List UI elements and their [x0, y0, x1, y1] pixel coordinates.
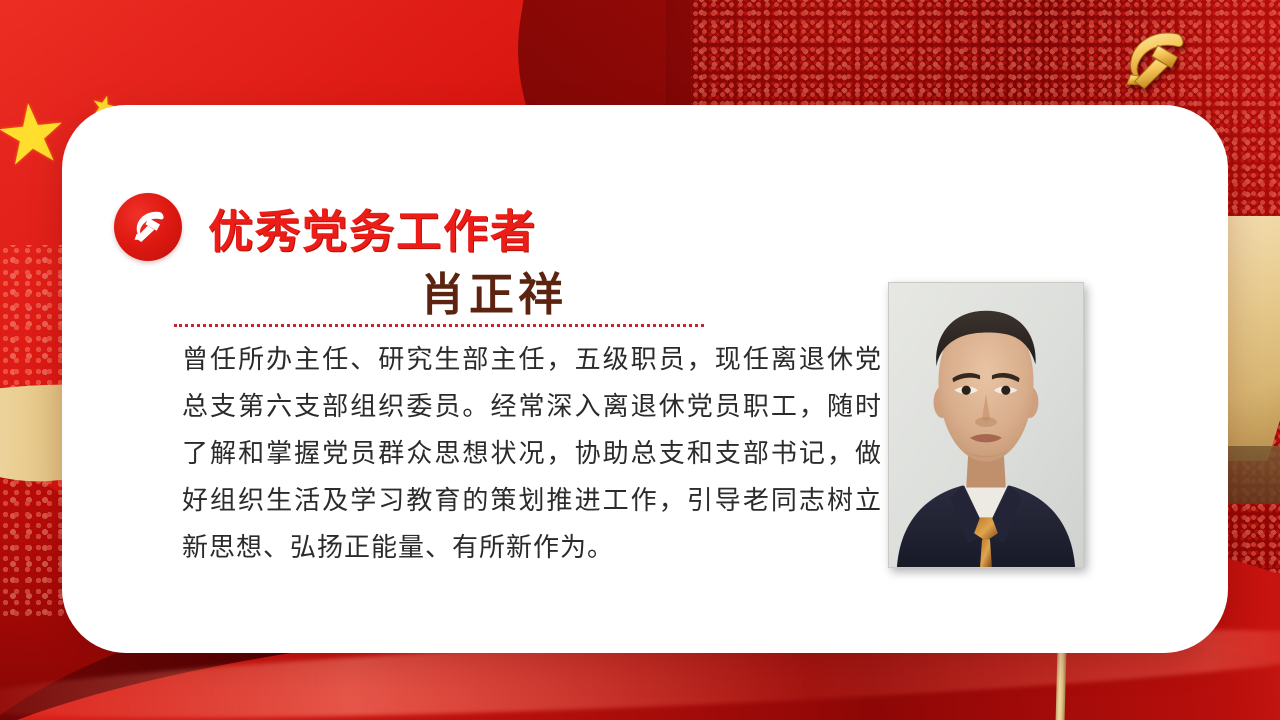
biography-text: 曾任所办主任、研究生部主任，五级职员，现任离退休党总支第六支部组织委员。经常深入… [182, 337, 882, 572]
page-title: 优秀党务工作者 [208, 195, 537, 260]
portrait-photo [888, 282, 1084, 568]
slide-canvas: ★ ★ ★ ★ ★ [0, 0, 1280, 720]
party-emblem-gold-icon [1104, 24, 1208, 102]
header-row: 优秀党务工作者 [114, 193, 537, 261]
content-card: 优秀党务工作者 肖正祥 曾任所办主任、研究生部主任，五级职员，现任离退休党总支第… [62, 105, 1228, 653]
dotted-divider [174, 324, 704, 327]
party-emblem-circle-icon [114, 193, 182, 261]
person-name: 肖正祥 [420, 258, 567, 323]
